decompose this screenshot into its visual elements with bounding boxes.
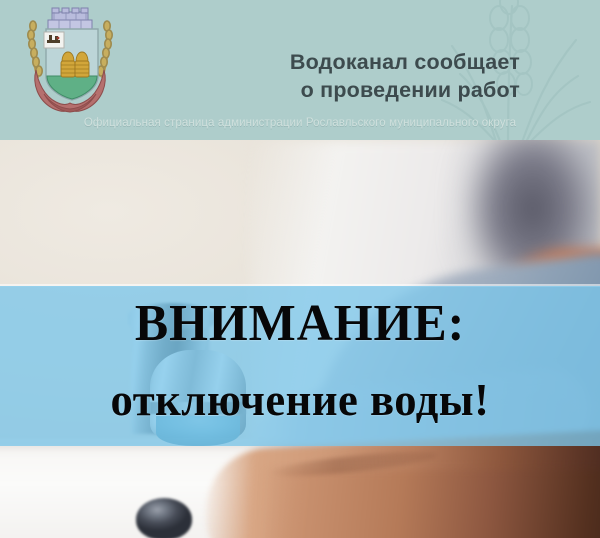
header-title-block: Водоканал сообщает о проведении работ bbox=[120, 48, 600, 104]
header-banner: Водоканал сообщает о проведении работ Оф… bbox=[0, 0, 600, 140]
header-title-line-2: о проведении работ bbox=[120, 76, 520, 104]
coat-of-arms-icon bbox=[14, 4, 126, 122]
blue-band-overlay bbox=[0, 286, 600, 446]
header-title-line-1: Водоканал сообщает bbox=[120, 48, 520, 76]
sink-drain bbox=[136, 498, 192, 538]
header-subtitle: Официальная страница администрации Росла… bbox=[0, 117, 600, 129]
hand-wrist bbox=[265, 470, 600, 538]
announcement-poster: Водоканал сообщает о проведении работ Оф… bbox=[0, 0, 600, 538]
